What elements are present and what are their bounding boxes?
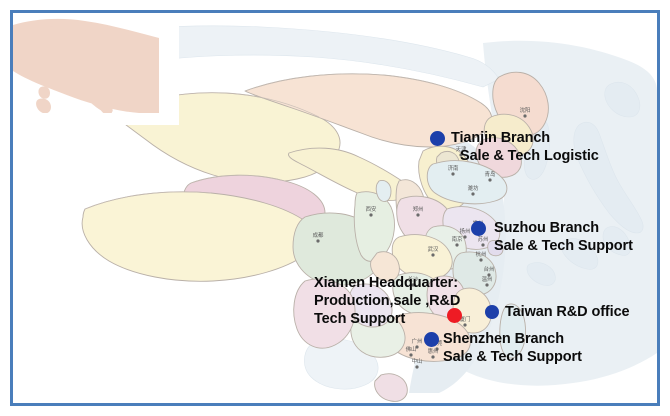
city-name: 扬州 [460, 227, 471, 235]
shenzhen-label: Shenzhen Branch Sale & Tech Support [443, 330, 582, 366]
city-name: 青岛 [485, 170, 496, 178]
tianjin-label-line1: Tianjin Branch [451, 130, 550, 146]
shenzhen-marker[interactable] [424, 332, 439, 347]
city-name: 潍坊 [468, 184, 479, 192]
taiwan-marker[interactable] [485, 305, 499, 319]
suzhou-label-line2: Sale & Tech Support [494, 237, 633, 255]
taiwan-label: Taiwan R&D office [505, 303, 630, 321]
tianjin-label: Tianjin Branch Sale & Tech Logistic [451, 129, 599, 165]
taiwan-label-line1: Taiwan R&D office [505, 304, 630, 320]
xiamen-label-line1: Xiamen Headquarter: [314, 275, 458, 291]
tianjin-marker[interactable] [430, 131, 445, 146]
city-name: 惠州 [428, 347, 439, 355]
city-name: 台州 [484, 265, 495, 273]
city-name: 郑州 [413, 205, 424, 213]
xiamen-label-line3: Tech Support [314, 310, 460, 328]
suzhou-label-line1: Suzhou Branch [494, 220, 599, 236]
shenzhen-label-line2: Sale & Tech Support [443, 348, 582, 366]
city-name: 杭州 [476, 250, 487, 258]
city-name: 济南 [448, 164, 459, 172]
xiamen-label-line2: Production,sale ,R&D [314, 292, 460, 310]
city-name: 温州 [482, 275, 493, 283]
city-name: 中山 [412, 357, 423, 365]
city-name: 西安 [366, 205, 377, 213]
suzhou-label: Suzhou Branch Sale & Tech Support [494, 219, 633, 255]
xiamen-label: Xiamen Headquarter: Production,sale ,R&D… [314, 274, 460, 328]
city-name: 武汉 [428, 245, 439, 253]
city-name: 苏州 [478, 235, 489, 243]
city-name: 沈阳 [520, 106, 531, 114]
shenzhen-label-line1: Shenzhen Branch [443, 331, 564, 347]
suzhou-marker[interactable] [471, 221, 486, 236]
city-name: 南京 [452, 235, 463, 243]
city-name: 佛山 [406, 345, 417, 353]
inset-bottom-mask [13, 113, 179, 125]
europe-inset-panel [13, 13, 179, 125]
tianjin-label-line2: Sale & Tech Logistic [451, 147, 599, 165]
inset-right-mask [159, 13, 179, 125]
city-name: 成都 [313, 231, 324, 239]
map-screenshot: 沈阳天津济南青岛潍坊西安郑州成都武汉常州扬州南京苏州杭州台州温州长沙厦门广州东莞… [0, 0, 670, 416]
city-name: 广州 [412, 337, 423, 345]
